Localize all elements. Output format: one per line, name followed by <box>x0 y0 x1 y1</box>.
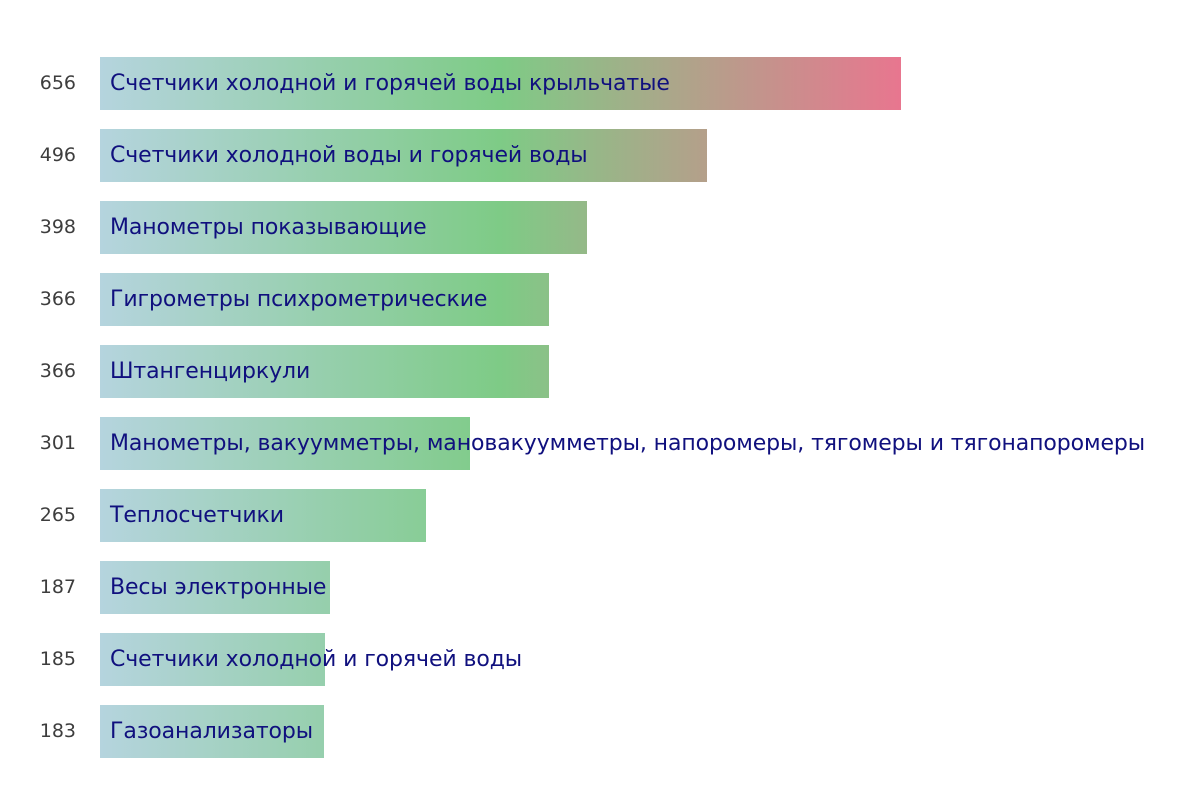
bar-row[interactable]: 185Счетчики холодной и горячей воды <box>0 633 1200 686</box>
bar-value-label: 265 <box>0 489 76 542</box>
bar-row[interactable]: 265Теплосчетчики <box>0 489 1200 542</box>
bar-value-label: 183 <box>0 705 76 758</box>
bar-row[interactable]: 301Манометры, вакуумметры, мановакууммет… <box>0 417 1200 470</box>
bar-row[interactable]: 398Манометры показывающие <box>0 201 1200 254</box>
bar-value-label: 366 <box>0 345 76 398</box>
bar-category-label: Манометры, вакуумметры, мановакуумметры,… <box>110 417 1145 470</box>
bar-category-label: Счетчики холодной и горячей воды крыльча… <box>110 57 670 110</box>
bar-value-label: 366 <box>0 273 76 326</box>
bar-value-label: 301 <box>0 417 76 470</box>
bar-row[interactable]: 496Счетчики холодной воды и горячей воды <box>0 129 1200 182</box>
bar-category-label: Счетчики холодной воды и горячей воды <box>110 129 588 182</box>
bar-category-label: Штангенциркули <box>110 345 310 398</box>
bar-category-label: Счетчики холодной и горячей воды <box>110 633 522 686</box>
bar-row[interactable]: 366Гигрометры психрометрические <box>0 273 1200 326</box>
bar-category-label: Гигрометры психрометрические <box>110 273 487 326</box>
bar-value-label: 187 <box>0 561 76 614</box>
bar-category-label: Манометры показывающие <box>110 201 427 254</box>
bar-row[interactable]: 656Счетчики холодной и горячей воды крыл… <box>0 57 1200 110</box>
bar-row[interactable]: 366Штангенциркули <box>0 345 1200 398</box>
horizontal-bar-chart: 656Счетчики холодной и горячей воды крыл… <box>0 0 1200 800</box>
bar-value-label: 656 <box>0 57 76 110</box>
bar-row[interactable]: 183Газоанализаторы <box>0 705 1200 758</box>
bar-value-label: 496 <box>0 129 76 182</box>
bar-category-label: Теплосчетчики <box>110 489 284 542</box>
bar-category-label: Весы электронные <box>110 561 326 614</box>
bar-row[interactable]: 187Весы электронные <box>0 561 1200 614</box>
bar-value-label: 185 <box>0 633 76 686</box>
bar-value-label: 398 <box>0 201 76 254</box>
bar-category-label: Газоанализаторы <box>110 705 313 758</box>
